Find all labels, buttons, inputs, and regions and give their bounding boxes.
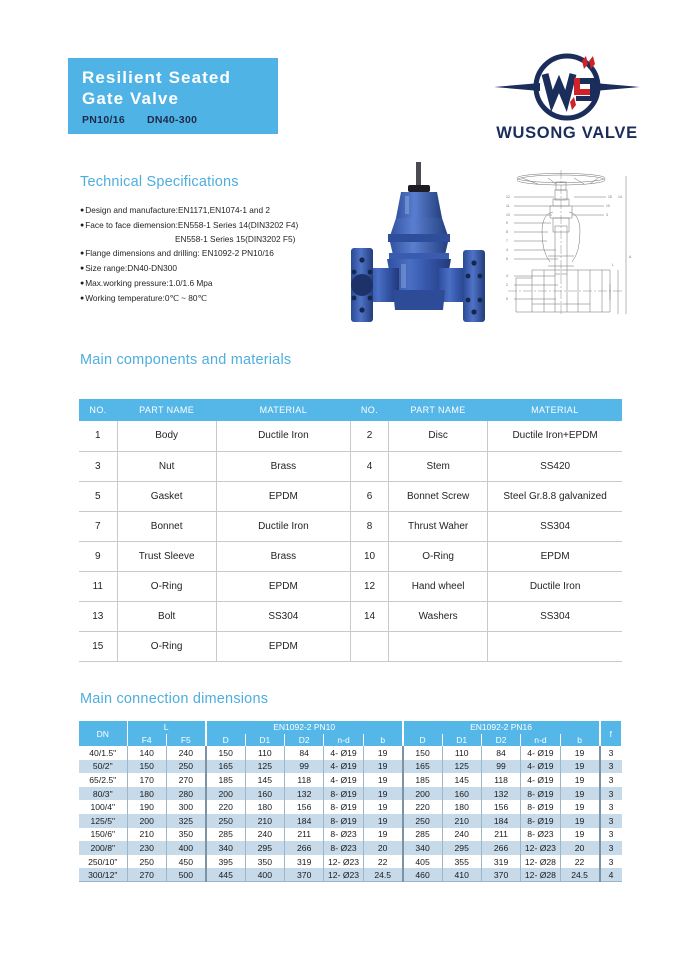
cell-f: 3 <box>600 814 622 828</box>
cell-b-pn10: 19 <box>363 814 402 828</box>
cell-b-pn16: 20 <box>560 841 599 855</box>
cell-d-pn10: 250 <box>206 814 245 828</box>
cell-nd-pn10: 8- Ø23 <box>324 828 363 842</box>
col-d2-pn16: D2 <box>481 734 520 747</box>
wusong-logo-icon <box>482 52 652 122</box>
cell-no: 14 <box>350 601 388 631</box>
cell-b-pn16: 22 <box>560 855 599 869</box>
bullet-icon: ● <box>80 250 84 257</box>
cell-d-pn10: 340 <box>206 841 245 855</box>
cell-b-pn10: 22 <box>363 855 402 869</box>
col-f4: F4 <box>127 734 166 747</box>
svg-text:13: 13 <box>506 213 510 217</box>
cell-f5: 240 <box>166 746 205 760</box>
cell-d-pn10: 165 <box>206 760 245 774</box>
cell-f5: 350 <box>166 828 205 842</box>
product-photo <box>345 160 495 325</box>
cell-f: 3 <box>600 855 622 869</box>
cell-b-pn10: 19 <box>363 828 402 842</box>
spec-text: Design and manufacture:EN1171,EN1074-1 a… <box>85 205 270 215</box>
cell-f5: 450 <box>166 855 205 869</box>
col-d-pn16: D <box>403 734 442 747</box>
cell-f: 3 <box>600 800 622 814</box>
table-row: 125/5"2003252502101848- Ø19192502101848-… <box>79 814 622 828</box>
cell-d2-pn10: 118 <box>285 773 324 787</box>
title-banner: Resilient Seated Gate Valve PN10/16DN40-… <box>68 58 278 134</box>
cell-d1-pn16: 210 <box>442 814 481 828</box>
cell-d1-pn16: 355 <box>442 855 481 869</box>
col-group-pn16: EN1092-2 PN16 <box>403 721 600 734</box>
table-row: 200/8"2304003402952668- Ø232034029526612… <box>79 841 622 855</box>
spec-text: Size range:DN40-DN300 <box>85 263 177 273</box>
cell-nd-pn16: 12- Ø23 <box>521 841 560 855</box>
cell-nd-pn16: 8- Ø19 <box>521 787 560 801</box>
col-f5: F5 <box>166 734 205 747</box>
components-table: NO. PART NAME MATERIAL NO. PART NAME MAT… <box>79 399 622 662</box>
cell-d-pn16: 250 <box>403 814 442 828</box>
cell-nd-pn10: 4- Ø19 <box>324 773 363 787</box>
cell-d1-pn10: 145 <box>245 773 284 787</box>
svg-text:11: 11 <box>506 204 510 208</box>
cell-d2-pn16: 211 <box>481 828 520 842</box>
cell-material: SS304 <box>488 601 622 631</box>
cell-d2-pn16: 132 <box>481 787 520 801</box>
cell-nd-pn16: 4- Ø19 <box>521 746 560 760</box>
cell-f5: 270 <box>166 773 205 787</box>
cell-f: 3 <box>600 841 622 855</box>
cell-material: EPDM <box>488 541 622 571</box>
cell-part-name: O-Ring <box>117 571 216 601</box>
cell-d1-pn10: 110 <box>245 746 284 760</box>
table-row: 1BodyDuctile Iron2DiscDuctile Iron+EPDM <box>79 421 622 451</box>
cell-part-name: Bonnet Screw <box>389 481 488 511</box>
col-b-pn16: b <box>560 734 599 747</box>
cell-d-pn10: 200 <box>206 787 245 801</box>
table-row: 50/2"150250165125994- Ø1919165125994- Ø1… <box>79 760 622 774</box>
cell-no: 11 <box>79 571 117 601</box>
svg-text:12: 12 <box>506 195 510 199</box>
cell-no: 10 <box>350 541 388 571</box>
cell-nd-pn16: 8- Ø23 <box>521 828 560 842</box>
cell-f4: 250 <box>127 855 166 869</box>
cell-b-pn16: 19 <box>560 746 599 760</box>
bullet-icon: ● <box>80 207 84 214</box>
cell-b-pn10: 24.5 <box>363 868 402 882</box>
svg-text:3: 3 <box>606 213 608 217</box>
cell-f5: 500 <box>166 868 205 882</box>
cell-b-pn10: 19 <box>363 773 402 787</box>
cell-d1-pn16: 125 <box>442 760 481 774</box>
cell-d2-pn10: 184 <box>285 814 324 828</box>
cell-f4: 230 <box>127 841 166 855</box>
cell-no: 1 <box>79 421 117 451</box>
cell-f: 3 <box>600 787 622 801</box>
cell-f5: 300 <box>166 800 205 814</box>
cell-part-name: Bolt <box>117 601 216 631</box>
cell-part-name: Disc <box>389 421 488 451</box>
cell-part-name <box>389 631 488 661</box>
cell-d2-pn16: 266 <box>481 841 520 855</box>
cell-material: Ductile Iron <box>488 571 622 601</box>
cell-dn: 100/4" <box>79 800 127 814</box>
cell-d-pn10: 395 <box>206 855 245 869</box>
col-d-pn10: D <box>206 734 245 747</box>
cell-d2-pn16: 84 <box>481 746 520 760</box>
cell-material: SS420 <box>488 451 622 481</box>
cell-nd-pn10: 8- Ø23 <box>324 841 363 855</box>
cell-d1-pn16: 110 <box>442 746 481 760</box>
cell-d1-pn16: 240 <box>442 828 481 842</box>
cell-f: 3 <box>600 746 622 760</box>
cell-dn: 40/1.5" <box>79 746 127 760</box>
cell-d2-pn10: 370 <box>285 868 324 882</box>
product-title-subtitle: PN10/16DN40-300 <box>82 114 278 126</box>
cell-d1-pn10: 180 <box>245 800 284 814</box>
cell-d-pn16: 460 <box>403 868 442 882</box>
cell-f4: 170 <box>127 773 166 787</box>
cell-b-pn10: 19 <box>363 760 402 774</box>
spec-text: Flange dimensions and drilling: EN1092-2… <box>85 248 274 258</box>
table-row: 7BonnetDuctile Iron8Thrust WaherSS304 <box>79 511 622 541</box>
cell-material: EPDM <box>216 571 350 601</box>
bullet-icon: ● <box>80 265 84 272</box>
cell-b-pn16: 19 <box>560 760 599 774</box>
cell-b-pn10: 20 <box>363 841 402 855</box>
tech-spec-heading: Technical Specifications <box>80 174 239 190</box>
cell-dn: 65/2.5" <box>79 773 127 787</box>
col-no-1: NO. <box>79 399 117 421</box>
spec-item: ●Max.working pressure:1.0/1.6 Mpa <box>80 276 380 291</box>
cell-part-name: Bonnet <box>117 511 216 541</box>
tech-spec-list: ●Design and manufacture:EN1171,EN1074-1 … <box>80 203 380 306</box>
col-material-2: MATERIAL <box>488 399 622 421</box>
cell-d1-pn10: 125 <box>245 760 284 774</box>
cell-material: Ductile Iron <box>216 511 350 541</box>
cell-nd-pn16: 8- Ø19 <box>521 814 560 828</box>
col-nd-pn16: n-d <box>521 734 560 747</box>
dimensions-table: DN L EN1092-2 PN10 EN1092-2 PN16 f F4 F5… <box>79 721 622 882</box>
svg-text:4: 4 <box>506 274 508 278</box>
bullet-icon: ● <box>80 222 84 229</box>
col-nd-pn10: n-d <box>324 734 363 747</box>
cell-part-name: Nut <box>117 451 216 481</box>
cell-part-name: Thrust Waher <box>389 511 488 541</box>
cell-d1-pn16: 145 <box>442 773 481 787</box>
cell-d1-pn16: 160 <box>442 787 481 801</box>
cell-f: 3 <box>600 773 622 787</box>
table-row: 100/4"1903002201801568- Ø19192201801568-… <box>79 800 622 814</box>
cell-no: 7 <box>79 511 117 541</box>
cell-d2-pn16: 99 <box>481 760 520 774</box>
cell-f: 3 <box>600 828 622 842</box>
cell-d2-pn16: 319 <box>481 855 520 869</box>
cell-d2-pn10: 266 <box>285 841 324 855</box>
cell-d1-pn10: 160 <box>245 787 284 801</box>
cell-b-pn16: 19 <box>560 800 599 814</box>
cell-d-pn16: 220 <box>403 800 442 814</box>
cell-f4: 180 <box>127 787 166 801</box>
cell-d1-pn10: 295 <box>245 841 284 855</box>
col-f: f <box>600 721 622 746</box>
cell-nd-pn10: 12- Ø23 <box>324 868 363 882</box>
svg-text:8: 8 <box>506 230 508 234</box>
cell-nd-pn16: 12- Ø28 <box>521 868 560 882</box>
cell-f4: 270 <box>127 868 166 882</box>
size-range-label: DN40-300 <box>147 114 197 126</box>
svg-text:5: 5 <box>506 297 508 301</box>
table-row: 65/2.5"1702701851451184- Ø19191851451184… <box>79 773 622 787</box>
cell-material: SS304 <box>488 511 622 541</box>
cell-f5: 250 <box>166 760 205 774</box>
cell-f4: 210 <box>127 828 166 842</box>
cell-material: Brass <box>216 451 350 481</box>
cell-material: Steel Gr.8.8 galvanized <box>488 481 622 511</box>
table-header-row-sub: F4 F5 D D1 D2 n-d b D D1 D2 n-d b <box>79 734 622 747</box>
cell-dn: 250/10" <box>79 855 127 869</box>
table-row: 9Trust SleeveBrass10O-RingEPDM <box>79 541 622 571</box>
spec-item: ●Flange dimensions and drilling: EN1092-… <box>80 246 380 261</box>
cell-d2-pn10: 156 <box>285 800 324 814</box>
cell-d-pn16: 165 <box>403 760 442 774</box>
table-row: 11O-RingEPDM12Hand wheelDuctile Iron <box>79 571 622 601</box>
bullet-icon: ● <box>80 280 84 287</box>
cell-d-pn10: 220 <box>206 800 245 814</box>
cell-f: 4 <box>600 868 622 882</box>
cell-nd-pn10: 8- Ø19 <box>324 814 363 828</box>
table-row: 250/10"25045039535031912- Ø2322405355319… <box>79 855 622 869</box>
components-table-body: 1BodyDuctile Iron2DiscDuctile Iron+EPDM3… <box>79 421 622 661</box>
cell-material: Brass <box>216 541 350 571</box>
cell-d-pn16: 340 <box>403 841 442 855</box>
col-b-pn10: b <box>363 734 402 747</box>
cell-d-pn10: 185 <box>206 773 245 787</box>
cell-d1-pn16: 180 <box>442 800 481 814</box>
cell-d1-pn10: 240 <box>245 828 284 842</box>
cell-dn: 125/5" <box>79 814 127 828</box>
cell-d2-pn16: 156 <box>481 800 520 814</box>
spec-item: ●Design and manufacture:EN1171,EN1074-1 … <box>80 203 380 218</box>
components-heading: Main components and materials <box>80 352 291 368</box>
cell-no: 4 <box>350 451 388 481</box>
table-row: 300/12"27050044540037012- Ø2324.54604103… <box>79 868 622 882</box>
cell-no: 9 <box>79 541 117 571</box>
cell-dn: 150/6" <box>79 828 127 842</box>
company-name: WUSONG VALVE <box>482 124 652 143</box>
table-header-row-group: DN L EN1092-2 PN10 EN1092-2 PN16 f <box>79 721 622 734</box>
cell-no: 6 <box>350 481 388 511</box>
svg-text:9: 9 <box>506 221 508 225</box>
cell-d1-pn16: 410 <box>442 868 481 882</box>
cell-nd-pn16: 4- Ø19 <box>521 773 560 787</box>
col-no-2: NO. <box>350 399 388 421</box>
spec-continuation: EN558-1 Series 15(DIN3202 F5) <box>80 233 380 246</box>
cell-d2-pn10: 84 <box>285 746 324 760</box>
cell-part-name: Hand wheel <box>389 571 488 601</box>
table-row: 15O-RingEPDM <box>79 631 622 661</box>
cell-b-pn16: 19 <box>560 787 599 801</box>
cell-d2-pn16: 370 <box>481 868 520 882</box>
svg-text:10: 10 <box>606 204 610 208</box>
col-group-l: L <box>127 721 206 734</box>
cell-d-pn16: 185 <box>403 773 442 787</box>
cell-no: 12 <box>350 571 388 601</box>
svg-text:6: 6 <box>506 257 508 261</box>
cell-d-pn10: 285 <box>206 828 245 842</box>
cell-d2-pn10: 99 <box>285 760 324 774</box>
table-row: 3NutBrass4StemSS420 <box>79 451 622 481</box>
cell-d-pn16: 200 <box>403 787 442 801</box>
cell-no: 5 <box>79 481 117 511</box>
table-row: 5GasketEPDM6Bonnet ScrewSteel Gr.8.8 gal… <box>79 481 622 511</box>
cell-nd-pn16: 8- Ø19 <box>521 800 560 814</box>
table-row: 150/6"2103502852402118- Ø23192852402118-… <box>79 828 622 842</box>
product-title-line1: Resilient Seated <box>82 67 278 88</box>
cell-d-pn16: 150 <box>403 746 442 760</box>
cell-dn: 80/3" <box>79 787 127 801</box>
col-d1-pn10: D1 <box>245 734 284 747</box>
cell-f5: 280 <box>166 787 205 801</box>
cell-nd-pn10: 12- Ø23 <box>324 855 363 869</box>
cell-d-pn10: 150 <box>206 746 245 760</box>
dimensions-table-body: 40/1.5"140240150110844- Ø1919150110844- … <box>79 746 622 882</box>
cell-d2-pn10: 319 <box>285 855 324 869</box>
bullet-icon: ● <box>80 295 84 302</box>
col-part-name-1: PART NAME <box>117 399 216 421</box>
col-d2-pn10: D2 <box>285 734 324 747</box>
cell-nd-pn10: 4- Ø19 <box>324 746 363 760</box>
svg-text:A: A <box>629 255 632 259</box>
svg-text:14: 14 <box>618 195 622 199</box>
spec-item: ●Size range:DN40-DN300 <box>80 261 380 276</box>
cell-part-name: Washers <box>389 601 488 631</box>
spec-item: ●Face to face diemension:EN558-1 Series … <box>80 218 380 233</box>
cell-nd-pn10: 8- Ø19 <box>324 787 363 801</box>
spec-text: Max.working pressure:1.0/1.6 Mpa <box>85 278 212 288</box>
cell-part-name: Stem <box>389 451 488 481</box>
cell-d2-pn16: 184 <box>481 814 520 828</box>
valve-cross-section-drawing: 12 11 13 9 8 7 4 6 4 2 5 15 14 10 3 A L <box>498 166 646 316</box>
cell-material: EPDM <box>216 481 350 511</box>
cell-part-name: Body <box>117 421 216 451</box>
cell-b-pn16: 19 <box>560 773 599 787</box>
cell-f4: 190 <box>127 800 166 814</box>
cell-b-pn16: 19 <box>560 828 599 842</box>
pressure-rating-label: PN10/16 <box>82 114 125 126</box>
cell-no: 13 <box>79 601 117 631</box>
cell-part-name: Trust Sleeve <box>117 541 216 571</box>
page-header: Resilient Seated Gate Valve PN10/16DN40-… <box>0 0 700 150</box>
col-material-1: MATERIAL <box>216 399 350 421</box>
cell-nd-pn16: 4- Ø19 <box>521 760 560 774</box>
cell-d1-pn10: 210 <box>245 814 284 828</box>
company-logo: WUSONG VALVE <box>482 52 652 143</box>
cell-dn: 50/2" <box>79 760 127 774</box>
cell-no: 15 <box>79 631 117 661</box>
cell-material: EPDM <box>216 631 350 661</box>
cell-b-pn10: 19 <box>363 787 402 801</box>
cell-material: Ductile Iron <box>216 421 350 451</box>
table-row: 13BoltSS30414WashersSS304 <box>79 601 622 631</box>
col-d1-pn16: D1 <box>442 734 481 747</box>
svg-text:2: 2 <box>506 283 508 287</box>
col-dn: DN <box>79 721 127 746</box>
cell-nd-pn10: 8- Ø19 <box>324 800 363 814</box>
cell-no: 8 <box>350 511 388 541</box>
spec-text: Working temperature:0℃ ~ 80℃ <box>85 293 207 303</box>
cell-material: Ductile Iron+EPDM <box>488 421 622 451</box>
cell-f: 3 <box>600 760 622 774</box>
cell-no: 2 <box>350 421 388 451</box>
cell-d-pn10: 445 <box>206 868 245 882</box>
svg-text:4: 4 <box>506 248 508 252</box>
svg-text:7: 7 <box>506 239 508 243</box>
cell-f5: 325 <box>166 814 205 828</box>
table-header-row: NO. PART NAME MATERIAL NO. PART NAME MAT… <box>79 399 622 421</box>
cell-b-pn10: 19 <box>363 746 402 760</box>
cell-dn: 300/12" <box>79 868 127 882</box>
cell-f5: 400 <box>166 841 205 855</box>
cell-no: 3 <box>79 451 117 481</box>
cell-d-pn16: 285 <box>403 828 442 842</box>
cell-part-name: O-Ring <box>117 631 216 661</box>
cell-part-name: O-Ring <box>389 541 488 571</box>
cell-material <box>488 631 622 661</box>
cell-nd-pn16: 12- Ø28 <box>521 855 560 869</box>
cell-b-pn16: 24.5 <box>560 868 599 882</box>
cell-d1-pn10: 350 <box>245 855 284 869</box>
table-row: 80/3"1802802001601328- Ø19192001601328- … <box>79 787 622 801</box>
cell-f4: 150 <box>127 760 166 774</box>
cell-no <box>350 631 388 661</box>
svg-text:15: 15 <box>608 195 612 199</box>
cell-d2-pn16: 118 <box>481 773 520 787</box>
col-part-name-2: PART NAME <box>389 399 488 421</box>
dimensions-heading: Main connection dimensions <box>80 691 268 707</box>
product-title-line2: Gate Valve <box>82 88 278 109</box>
cell-nd-pn10: 4- Ø19 <box>324 760 363 774</box>
cell-d1-pn16: 295 <box>442 841 481 855</box>
cell-d1-pn10: 400 <box>245 868 284 882</box>
spec-text: Face to face diemension:EN558-1 Series 1… <box>85 220 298 230</box>
table-row: 40/1.5"140240150110844- Ø1919150110844- … <box>79 746 622 760</box>
col-group-pn10: EN1092-2 PN10 <box>206 721 403 734</box>
spec-item: ●Working temperature:0℃ ~ 80℃ <box>80 291 380 306</box>
cell-material: SS304 <box>216 601 350 631</box>
cell-b-pn16: 19 <box>560 814 599 828</box>
cell-b-pn10: 19 <box>363 800 402 814</box>
cell-d2-pn10: 132 <box>285 787 324 801</box>
cell-d-pn16: 405 <box>403 855 442 869</box>
cell-dn: 200/8" <box>79 841 127 855</box>
cell-f4: 140 <box>127 746 166 760</box>
cell-part-name: Gasket <box>117 481 216 511</box>
cell-d2-pn10: 211 <box>285 828 324 842</box>
cell-f4: 200 <box>127 814 166 828</box>
svg-text:L: L <box>612 263 614 267</box>
